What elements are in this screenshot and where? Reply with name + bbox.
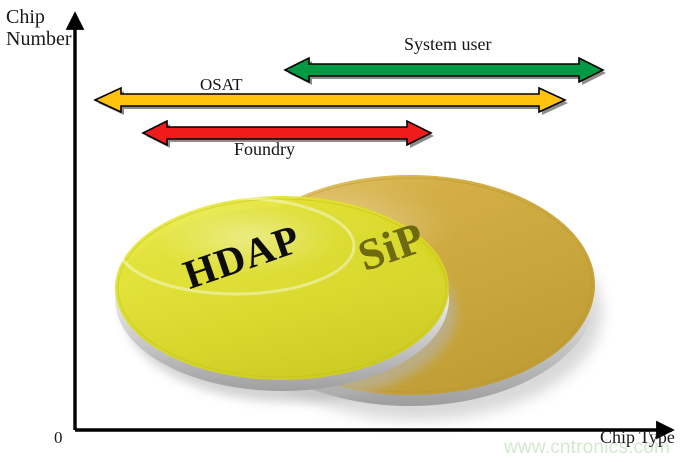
figure-canvas: HDAP SiP SiP Chip Number 0 www.cntronics… <box>0 0 698 466</box>
hdap-disc-ring <box>118 198 354 294</box>
x-axis-label: Chip Type <box>600 427 675 447</box>
hdap-disc <box>115 196 449 391</box>
sip-disc-shadow <box>234 204 602 420</box>
sip-disc-label: SiP <box>352 212 432 282</box>
hdap-disc-shadow <box>124 222 456 402</box>
band-osat[interactable] <box>92 84 574 118</box>
hdap-disc-gloss <box>152 202 344 274</box>
sip-disc-label-overlap: SiP <box>352 212 432 282</box>
band-label-foundry: Foundry <box>234 139 295 160</box>
band-label-osat: OSAT <box>200 75 243 95</box>
y-axis-label: Chip Number <box>6 6 72 51</box>
sip-disc-gloss <box>233 181 457 269</box>
system-user-arrow[interactable] <box>282 54 612 88</box>
origin-label: 0 <box>54 428 63 447</box>
sip-disc <box>225 175 595 406</box>
hdap-disc-label: HDAP <box>177 214 306 299</box>
band-system-user[interactable] <box>282 54 612 88</box>
osat-arrow[interactable] <box>92 84 574 118</box>
band-label-system-user: System user <box>404 34 492 55</box>
